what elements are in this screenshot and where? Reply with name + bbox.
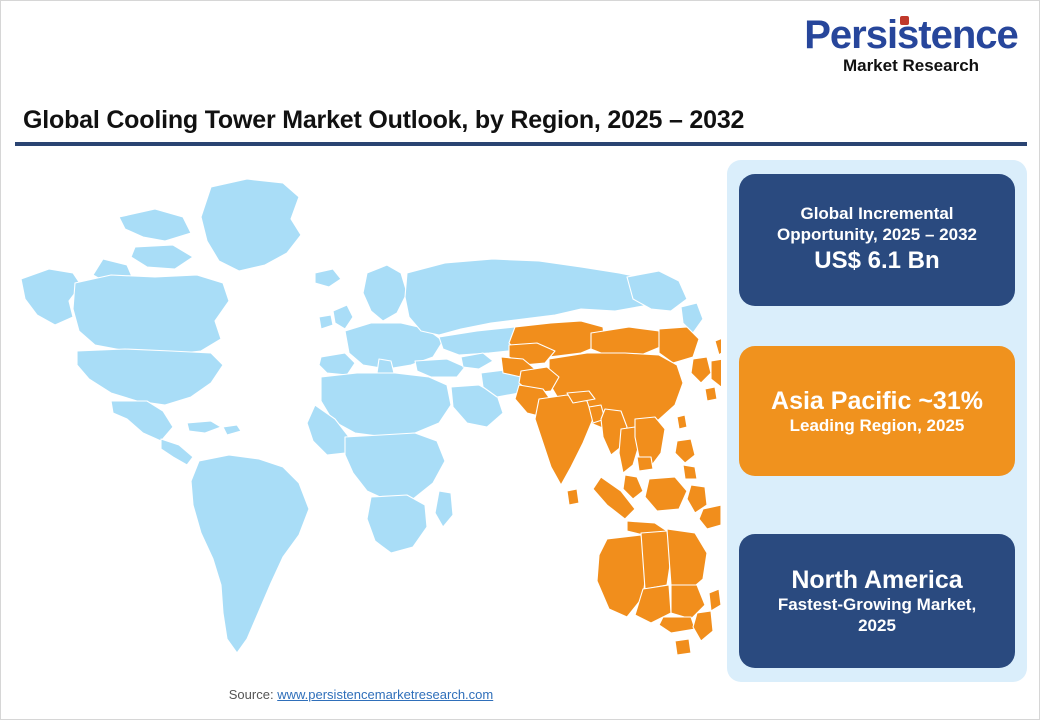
country-canada xyxy=(73,275,229,355)
title-divider xyxy=(15,142,1027,146)
opportunity-value: US$ 6.1 Bn xyxy=(814,247,939,276)
card-fastest-growing-market[interactable]: North America Fastest-Growing Market, 20… xyxy=(739,534,1015,668)
country-japan xyxy=(715,337,721,355)
opportunity-line2: Opportunity, 2025 – 2032 xyxy=(777,225,977,246)
country-central-america xyxy=(161,439,193,465)
country-philippines xyxy=(675,439,695,463)
card-global-incremental-opportunity[interactable]: Global Incremental Opportunity, 2025 – 2… xyxy=(739,174,1015,306)
country-new-zealand-n xyxy=(709,589,721,611)
country-usa xyxy=(77,349,223,405)
country-philippines-2 xyxy=(683,465,697,479)
opportunity-line1: Global Incremental xyxy=(800,204,953,225)
fastest-market-headline: North America xyxy=(791,565,962,595)
leading-region-caption: Leading Region, 2025 xyxy=(790,416,965,437)
country-tasmania xyxy=(675,639,691,655)
country-australia-nt xyxy=(641,531,671,589)
map-highlighted-regions xyxy=(501,321,721,655)
country-iceland xyxy=(315,269,341,287)
country-russia xyxy=(405,259,663,335)
fastest-market-caption-line2: 2025 xyxy=(858,616,896,637)
country-canada-arctic-2 xyxy=(131,245,193,269)
country-new-zealand-s xyxy=(693,611,713,641)
country-caribbean-2 xyxy=(223,425,241,435)
brand-logo: Persistence Market Research xyxy=(801,15,1021,74)
world-map xyxy=(15,161,721,671)
country-madagascar xyxy=(435,491,453,527)
country-japan-kyushu xyxy=(705,387,717,401)
country-caucasus xyxy=(461,353,493,369)
source-line: Source: www.persistencemarketresearch.co… xyxy=(1,687,721,702)
world-map-svg xyxy=(15,161,721,671)
country-mexico xyxy=(111,401,173,441)
country-greenland xyxy=(201,179,301,271)
highlights-panel: Global Incremental Opportunity, 2025 – 2… xyxy=(727,160,1027,682)
infographic-page: Persistence Market Research Global Cooli… xyxy=(0,0,1040,720)
country-japan-honshu xyxy=(711,359,721,387)
brand-tagline: Market Research xyxy=(801,57,1021,74)
country-korea xyxy=(691,357,711,383)
country-india xyxy=(535,395,593,485)
country-borneo xyxy=(645,477,687,511)
source-label: Source: xyxy=(229,687,274,702)
fastest-market-caption-line1: Fastest-Growing Market, xyxy=(778,595,976,616)
country-caribbean xyxy=(187,421,221,433)
country-south-america xyxy=(191,455,309,653)
country-cambodia xyxy=(637,457,653,471)
country-alaska xyxy=(21,269,81,325)
country-australia-vic xyxy=(659,617,695,633)
country-central-africa xyxy=(345,433,445,501)
country-ne-china xyxy=(659,327,699,363)
brand-name-text: Persistence xyxy=(804,13,1018,57)
logo-dot-icon xyxy=(900,16,909,25)
country-scandinavia xyxy=(363,265,407,321)
country-taiwan xyxy=(677,415,687,429)
country-uk xyxy=(333,305,353,329)
country-iberia xyxy=(319,353,355,375)
leading-region-headline: Asia Pacific ~31% xyxy=(771,386,983,416)
country-ireland xyxy=(319,315,333,329)
source-link[interactable]: www.persistencemarketresearch.com xyxy=(277,687,493,702)
country-malaysia xyxy=(623,475,643,499)
country-australia-qld xyxy=(667,529,707,591)
country-canada-arctic xyxy=(119,209,191,241)
brand-name: Persistence xyxy=(804,15,1018,55)
page-title: Global Cooling Tower Market Outlook, by … xyxy=(23,106,744,135)
card-leading-region[interactable]: Asia Pacific ~31% Leading Region, 2025 xyxy=(739,346,1015,476)
country-turkey xyxy=(415,359,465,377)
country-southern-africa xyxy=(367,495,427,553)
country-sri-lanka xyxy=(567,489,579,505)
